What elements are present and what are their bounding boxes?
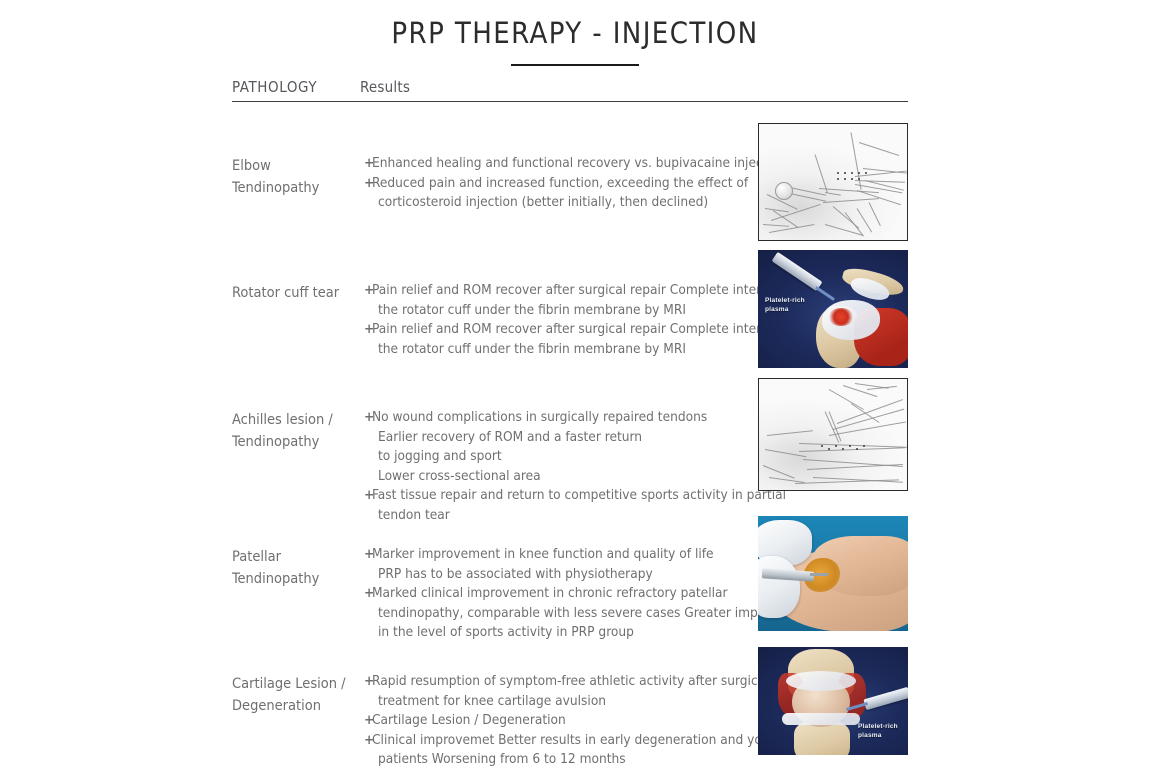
result-text: PRP has to be associated with physiother… [372,565,653,585]
result-text: Cartilage Lesion / Degeneration [372,711,566,731]
plus-bullet-icon: + [364,281,372,301]
result-text: the rotator cuff under the fibrin membra… [372,340,686,360]
achilles-injection-illustration [758,378,908,491]
pathology-line: Rotator cuff tear [232,283,360,305]
result-text: corticosteroid injection (better initial… [372,193,708,213]
knee-cartilage-prp-illustration: Platelet-rich plasma [758,647,908,755]
knee-injection-photo [758,516,908,631]
plus-bullet-icon: + [364,750,372,770]
result-text: Fast tissue repair and return to competi… [372,486,786,506]
plus-bullet-icon: + [364,623,372,643]
plus-bullet-icon: + [364,711,372,731]
plus-bullet-icon: + [364,408,372,428]
pathology-results-table: PATHOLOGY Results ElbowTendinopathy+Enha… [232,78,908,102]
shoulder-prp-injection-illustration: Platelet-rich plasma [758,250,908,368]
plasma-caption: Platelet-rich plasma [765,297,805,314]
result-text: tendinopathy, comparable with less sever… [372,604,817,624]
slide-header: PRP THERAPY - INJECTION [0,18,1150,66]
column-header-results: Results [360,78,908,96]
plus-bullet-icon: + [364,320,372,340]
title-underline-rule [511,64,639,66]
result-text: Pain relief and ROM recover after surgic… [372,320,805,340]
plus-bullet-icon: + [364,340,372,360]
plus-bullet-icon: + [364,692,372,712]
pathology-cell: PatellarTendinopathy [232,545,360,590]
result-text: to jogging and sport [372,447,502,467]
pathology-cell: Rotator cuff tear [232,281,360,305]
header-divider-rule [232,101,908,102]
plus-bullet-icon: + [364,447,372,467]
pathology-line: Achilles lesion / [232,410,360,432]
plus-bullet-icon: + [364,672,372,692]
result-text: Marker improvement in knee function and … [372,545,714,565]
result-text: Clinical improvemet Better results in ea… [372,731,798,751]
elbow-injection-illustration [758,123,908,241]
plus-bullet-icon: + [364,545,372,565]
pathology-cell: ElbowTendinopathy [232,154,360,199]
result-text: treatment for knee cartilage avulsion [372,692,606,712]
result-text: Pain relief and ROM recover after surgic… [372,281,805,301]
result-text: Rapid resumption of symptom-free athleti… [372,672,769,692]
plus-bullet-icon: + [364,193,372,213]
result-text: tendon tear [372,506,450,526]
pathology-line: Tendinopathy [232,569,360,591]
pathology-cell: Cartilage Lesion /Degeneration [232,672,360,717]
plus-bullet-icon: + [364,486,372,506]
result-text: Lower cross-sectional area [372,467,541,487]
plus-bullet-icon: + [364,604,372,624]
plus-bullet-icon: + [364,565,372,585]
pathology-cell: Achilles lesion /Tendinopathy [232,408,360,453]
plus-bullet-icon: + [364,731,372,751]
plus-bullet-icon: + [364,506,372,526]
plus-bullet-icon: + [364,584,372,604]
result-text: the rotator cuff under the fibrin membra… [372,301,686,321]
result-text: in the level of sports activity in PRP g… [372,623,634,643]
result-text: Marked clinical improvement in chronic r… [372,584,728,604]
table-header-row: PATHOLOGY Results [232,78,908,101]
pathology-line: Tendinopathy [232,178,360,200]
plasma-caption: Platelet-rich plasma [858,723,898,740]
column-header-pathology: PATHOLOGY [232,78,360,96]
plus-bullet-icon: + [364,154,372,174]
result-text: Enhanced healing and functional recovery… [372,154,793,174]
pathology-line: Patellar [232,547,360,569]
plus-bullet-icon: + [364,174,372,194]
result-text: Reduced pain and increased function, exc… [372,174,748,194]
pathology-line: Degeneration [232,696,360,718]
result-text: Earlier recovery of ROM and a faster ret… [372,428,642,448]
plus-bullet-icon: + [364,467,372,487]
plus-bullet-icon: + [364,428,372,448]
pathology-line: Tendinopathy [232,432,360,454]
pathology-line: Elbow [232,156,360,178]
result-text: patients Worsening from 6 to 12 months [372,750,626,770]
plus-bullet-icon: + [364,301,372,321]
page-title: PRP THERAPY - INJECTION [0,18,1150,50]
result-text: No wound complications in surgically rep… [372,408,707,428]
pathology-line: Cartilage Lesion / [232,674,360,696]
